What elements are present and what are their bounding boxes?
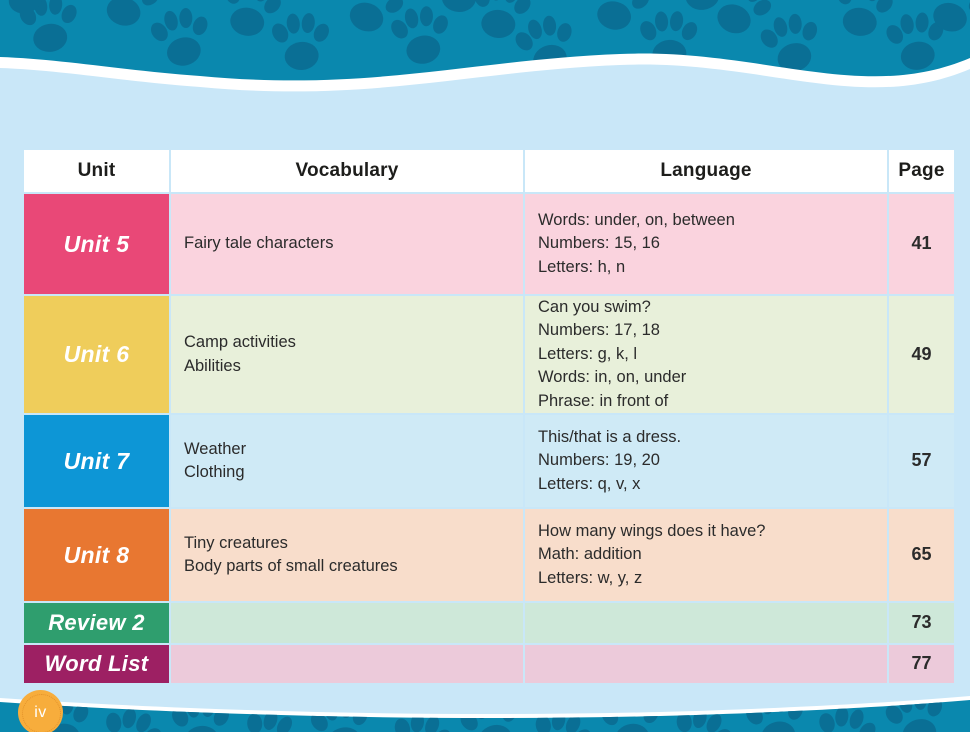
scope-and-sequence-table: Unit Vocabulary Language Page Unit 5Fair… xyxy=(22,148,956,685)
table-header: Unit Vocabulary Language Page xyxy=(24,150,954,192)
table-row: Unit 7Weather ClothingThis/that is a dre… xyxy=(24,415,954,507)
vocabulary-cell: Weather Clothing xyxy=(171,415,523,507)
column-header-language: Language xyxy=(525,150,887,192)
vocabulary-cell: Fairy tale characters xyxy=(171,194,523,294)
language-cell xyxy=(525,603,887,643)
language-cell: How many wings does it have? Math: addit… xyxy=(525,509,887,601)
language-cell: Words: under, on, between Numbers: 15, 1… xyxy=(525,194,887,294)
table-header-row: Unit Vocabulary Language Page xyxy=(24,150,954,192)
table-row: Word List77 xyxy=(24,645,954,683)
scope-and-sequence-table-wrapper: Unit Vocabulary Language Page Unit 5Fair… xyxy=(22,148,950,685)
vocabulary-cell xyxy=(171,603,523,643)
header-wave-graphic xyxy=(0,0,970,132)
unit-chip: Unit 6 xyxy=(24,296,169,413)
vocabulary-cell: Camp activities Abilities xyxy=(171,296,523,413)
table-row: Unit 5Fairy tale charactersWords: under,… xyxy=(24,194,954,294)
table-row: Unit 6Camp activities AbilitiesCan you s… xyxy=(24,296,954,413)
unit-chip: Word List xyxy=(24,645,169,683)
table-row: Review 273 xyxy=(24,603,954,643)
vocabulary-cell: Tiny creatures Body parts of small creat… xyxy=(171,509,523,601)
unit-chip: Unit 7 xyxy=(24,415,169,507)
vocabulary-cell xyxy=(171,645,523,683)
footer-wave-graphic xyxy=(0,688,970,732)
table-row: Unit 8Tiny creatures Body parts of small… xyxy=(24,509,954,601)
unit-chip: Unit 5 xyxy=(24,194,169,294)
page-number-cell: 73 xyxy=(889,603,954,643)
header-decoration-band xyxy=(0,0,970,132)
page-number-cell: 65 xyxy=(889,509,954,601)
unit-chip: Unit 8 xyxy=(24,509,169,601)
page-number-cell: 57 xyxy=(889,415,954,507)
page-number-cell: 41 xyxy=(889,194,954,294)
page-number-badge: iv xyxy=(18,690,63,732)
column-header-vocabulary: Vocabulary xyxy=(171,150,523,192)
footer-decoration-band xyxy=(0,688,970,732)
table-body: Unit 5Fairy tale charactersWords: under,… xyxy=(24,194,954,683)
language-cell: This/that is a dress. Numbers: 19, 20 Le… xyxy=(525,415,887,507)
language-cell: Can you swim? Numbers: 17, 18 Letters: g… xyxy=(525,296,887,413)
page-number-cell: 77 xyxy=(889,645,954,683)
language-cell xyxy=(525,645,887,683)
column-header-unit: Unit xyxy=(24,150,169,192)
page-number-label: iv xyxy=(34,704,47,722)
column-header-page: Page xyxy=(889,150,954,192)
page-number-cell: 49 xyxy=(889,296,954,413)
unit-chip: Review 2 xyxy=(24,603,169,643)
